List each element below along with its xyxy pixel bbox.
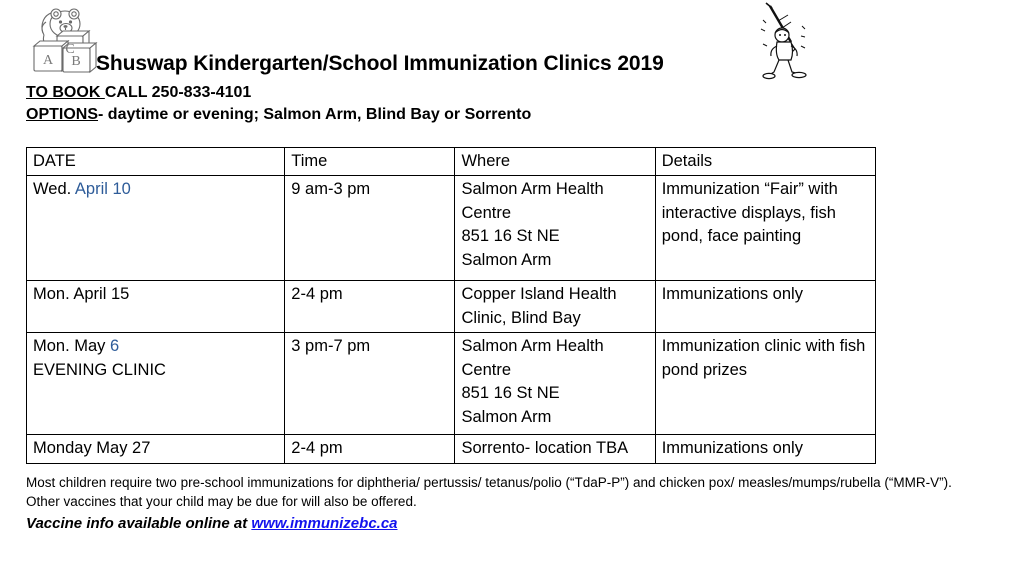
svg-text:B: B <box>71 54 80 69</box>
options-text: - daytime or evening; Salmon Arm, Blind … <box>98 106 531 123</box>
footer-note-2: Other vaccines that your child may be du… <box>26 492 986 511</box>
svg-text:A: A <box>43 53 54 68</box>
table-row: Mon. April 15 2-4 pm Copper Island Healt… <box>27 281 876 333</box>
footer-note-1: Most children require two pre-school imm… <box>26 473 986 492</box>
date-second-line: EVENING CLINIC <box>33 361 166 379</box>
column-header-time: Time <box>285 148 455 176</box>
date-prefix: Monday May 27 <box>33 439 150 457</box>
cell-where: Sorrento- location TBA <box>455 435 655 464</box>
cell-date: Mon. May 6 EVENING CLINIC <box>27 333 285 435</box>
booking-phone: CALL 250-833-4101 <box>105 84 251 101</box>
cell-details: Immunizations only <box>655 435 875 464</box>
cell-date: Wed. April 10 <box>27 176 285 281</box>
cell-time: 2-4 pm <box>285 281 455 333</box>
footer-notes: Most children require two pre-school imm… <box>26 473 986 535</box>
cell-time: 3 pm-7 pm <box>285 333 455 435</box>
footer-note-3: Vaccine info available online at www.imm… <box>26 513 986 534</box>
cell-details: Immunization “Fair” with interactive dis… <box>655 176 875 281</box>
options-label: OPTIONS <box>26 106 98 123</box>
column-header-details: Details <box>655 148 875 176</box>
date-prefix: Wed. <box>33 180 75 198</box>
booking-line: TO BOOK CALL 250-833-4101 <box>26 84 251 102</box>
table-header-row: DATE Time Where Details <box>27 148 876 176</box>
table-row: Mon. May 6 EVENING CLINIC 3 pm-7 pm Salm… <box>27 333 876 435</box>
options-line: OPTIONS- daytime or evening; Salmon Arm,… <box>26 106 531 124</box>
cell-where: Salmon Arm Health Centre 851 16 St NE Sa… <box>455 176 655 281</box>
nurse-syringe-icon <box>757 2 813 84</box>
cell-date: Mon. April 15 <box>27 281 285 333</box>
date-highlight: April 10 <box>75 180 131 198</box>
date-highlight: 6 <box>110 337 119 355</box>
column-header-where: Where <box>455 148 655 176</box>
abc-blocks-bear-icon: C A B <box>22 2 98 78</box>
cell-details: Immunizations only <box>655 281 875 333</box>
vaccine-info-label: Vaccine info available online at <box>26 515 251 532</box>
cell-details: Immunization clinic with fish pond prize… <box>655 333 875 435</box>
to-book-label: TO BOOK <box>26 84 105 101</box>
page-title: Shuswap Kindergarten/School Immunization… <box>96 52 664 75</box>
cell-where: Copper Island Health Clinic, Blind Bay <box>455 281 655 333</box>
cell-where: Salmon Arm Health Centre 851 16 St NE Sa… <box>455 333 655 435</box>
date-prefix: Mon. May <box>33 337 110 355</box>
column-header-date: DATE <box>27 148 285 176</box>
immunizebc-link[interactable]: www.immunizebc.ca <box>251 515 397 532</box>
document-header: C A B <box>0 0 1024 132</box>
clinic-schedule-table: DATE Time Where Details Wed. April 10 9 … <box>26 147 876 464</box>
cell-time: 2-4 pm <box>285 435 455 464</box>
table-row: Wed. April 10 9 am-3 pm Salmon Arm Healt… <box>27 176 876 281</box>
table-row: Monday May 27 2-4 pm Sorrento- location … <box>27 435 876 464</box>
cell-date: Monday May 27 <box>27 435 285 464</box>
cell-time: 9 am-3 pm <box>285 176 455 281</box>
date-prefix: Mon. April 15 <box>33 285 129 303</box>
